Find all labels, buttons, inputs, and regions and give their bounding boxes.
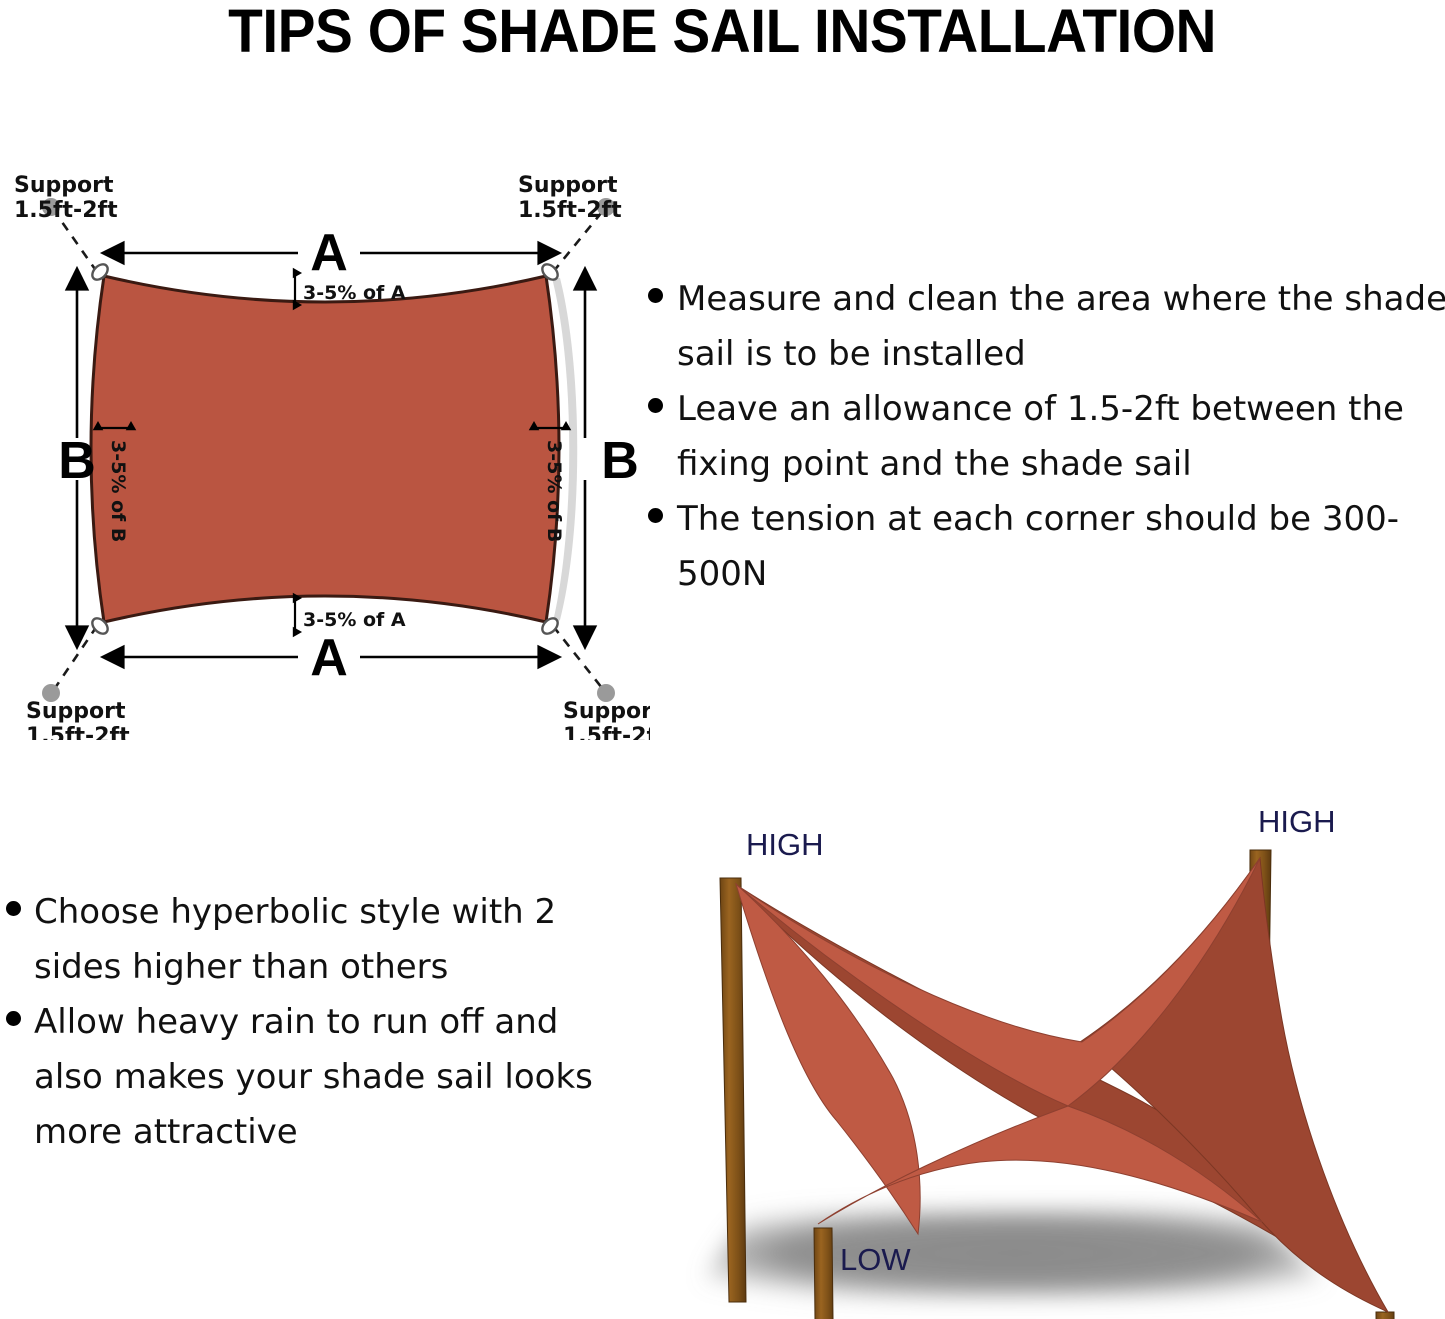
post-front-right — [1376, 1312, 1395, 1319]
post-front-left — [814, 1228, 834, 1319]
callout-left-curve-label: 3-5% of B — [107, 440, 129, 542]
rigging-line-bottom-left — [55, 626, 97, 688]
tip-text: Leave an allowance of 1.5-2ft between th… — [677, 382, 1445, 492]
list-item: Measure and clean the area where the sha… — [648, 272, 1445, 382]
support-label-bottom-right-line2: 1.5ft-2ft — [563, 724, 650, 740]
shade-sail-body — [91, 276, 559, 622]
support-label-top-right-line1: Support — [518, 173, 618, 198]
support-label-bottom-right-line1: Support — [563, 699, 650, 724]
list-item: Leave an allowance of 1.5-2ft between th… — [648, 382, 1445, 492]
bullet-dot-icon — [648, 398, 663, 413]
label-low-front-left: LOW — [840, 1242, 911, 1277]
list-item: Choose hyperbolic style with 2 sides hig… — [6, 885, 626, 995]
rectangular-shade-sail-dimension-diagram: A 3-5% of A A 3-5% of A B 3-5% of B B 3-… — [0, 160, 650, 740]
bullet-dot-icon — [648, 288, 663, 303]
bullet-dot-icon — [648, 508, 663, 523]
title-bar: TIPS OF SHADE SAIL INSTALLATION — [0, 0, 1445, 62]
support-label-bottom-left-line2: 1.5ft-2ft — [26, 724, 130, 740]
dimension-b-left-label: B — [58, 432, 96, 490]
tip-text: Choose hyperbolic style with 2 sides hig… — [34, 885, 626, 995]
support-label-bottom-left-line1: Support — [26, 699, 126, 724]
post-back-left — [720, 878, 746, 1302]
support-label-top-left-line2: 1.5ft-2ft — [14, 198, 118, 223]
tip-text: Allow heavy rain to run off and also mak… — [34, 995, 626, 1160]
label-high-back-right: HIGH — [1258, 804, 1336, 839]
installation-tips-list: Measure and clean the area where the sha… — [648, 272, 1445, 602]
hyperbolic-style-tips-list: Choose hyperbolic style with 2 sides hig… — [6, 885, 626, 1160]
list-item: The tension at each corner should be 300… — [648, 492, 1445, 602]
callout-top-curve-label: 3-5% of A — [303, 282, 406, 304]
dimension-b-right-label: B — [601, 432, 639, 490]
tip-text: Measure and clean the area where the sha… — [677, 272, 1445, 382]
list-item: Allow heavy rain to run off and also mak… — [6, 995, 626, 1160]
ground-shadow — [690, 1208, 1340, 1298]
tip-text: The tension at each corner should be 300… — [677, 492, 1445, 602]
dimension-a-bottom-label: A — [310, 629, 348, 687]
dimension-a-top-label: A — [310, 224, 348, 282]
page-title: TIPS OF SHADE SAIL INSTALLATION — [229, 1, 1217, 62]
support-label-top-left-line1: Support — [14, 173, 114, 198]
bullet-dot-icon — [6, 901, 21, 916]
label-high-back-left: HIGH — [746, 827, 824, 862]
bullet-dot-icon — [6, 1011, 21, 1026]
callout-bottom-curve-label: 3-5% of A — [303, 609, 406, 631]
callout-right-curve-label: 3-5% of B — [543, 440, 565, 542]
rigging-line-bottom-right — [553, 626, 602, 688]
support-label-top-right-line2: 1.5ft-2ft — [518, 198, 622, 223]
hyperbolic-shade-sail-illustration: HIGH HIGH LOW LOW — [650, 790, 1445, 1319]
